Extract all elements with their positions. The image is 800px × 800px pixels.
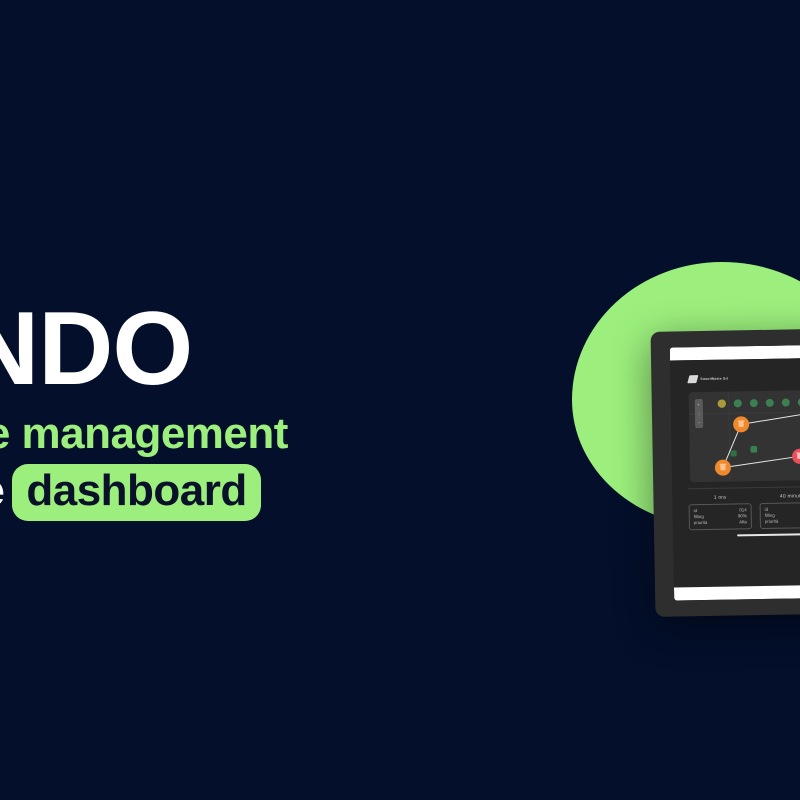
map-menu-icon[interactable]: ⋮ [697,411,701,416]
hero-subtitle-green: waste management [0,409,510,458]
tablet-device-mockup: SmartWaste Srl [651,328,800,617]
tablet-screen-bezel: SmartWaste Srl [670,344,800,600]
zoom-in-icon[interactable]: + [698,402,700,407]
card-eta-label: 40 minuti [759,493,800,500]
app-screen: SmartWaste Srl [670,357,800,587]
card-body: id 011 filling 95% priorità Alta [760,501,800,529]
page-title: ANDO [0,300,510,399]
card-key: priorità [694,520,708,526]
card-eta-label: 1 ora [688,494,751,501]
poster-canvas: ANDO waste management tutivedashboard Sm… [0,0,800,800]
card-row: priorità Alta [765,518,800,525]
card-key: priorità [765,519,779,525]
app-logo-label: SmartWaste Srl [700,377,728,381]
bin-info-card-list: 1 ora id 014 filling 90% priorit [688,493,800,530]
zoom-out-icon[interactable]: − [698,420,700,425]
card-body: id 014 filling 90% priorità Alta [689,503,752,531]
card-row: priorità Alta [694,519,747,526]
hero-text-block: ANDO waste management tutivedashboard [0,300,510,521]
bottom-bar [674,584,800,600]
hero-highlight-pill: dashboard [12,464,260,521]
logo-mark-icon [687,375,698,383]
bin-info-card[interactable]: 40 minuti id 011 filling 95% pri [759,493,800,529]
route-map[interactable]: + ⋮ − [689,389,800,482]
hero-subtitle-word: tutive [0,466,4,515]
hero-subtitle-white: tutivedashboard [0,464,510,521]
app-logo: SmartWaste Srl [688,375,728,384]
section-divider [688,485,800,489]
home-indicator [737,533,800,536]
bin-info-card[interactable]: 1 ora id 014 filling 90% priorit [688,494,752,530]
map-zoom-controls[interactable]: + ⋮ − [695,399,704,428]
card-value: Alta [739,519,747,525]
map-canvas [689,389,800,482]
